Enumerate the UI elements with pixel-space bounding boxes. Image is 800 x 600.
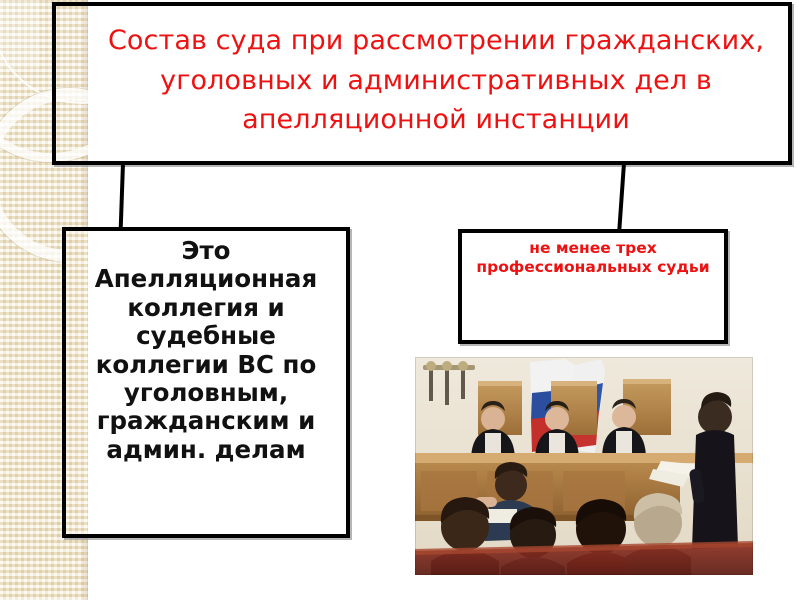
left-box-label: Это Апелляционная коллегия и судебные ко… <box>66 237 346 464</box>
right-box-label: не менее трех профессиональных судьи <box>462 239 724 277</box>
slide-title-box: Состав суда при рассмотрении гражданских… <box>52 2 792 165</box>
courtroom-photo <box>415 357 753 575</box>
right-content-box: не менее трех профессиональных судьи <box>458 229 728 344</box>
courtroom-photo-image <box>415 357 753 575</box>
presentation-slide: Состав суда при рассмотрении гражданских… <box>0 0 800 600</box>
left-content-box: Это Апелляционная коллегия и судебные ко… <box>62 227 350 538</box>
page-title: Состав суда при рассмотрении гражданских… <box>56 21 788 145</box>
connector-line-right <box>617 163 626 229</box>
connector-line-left <box>119 163 125 229</box>
